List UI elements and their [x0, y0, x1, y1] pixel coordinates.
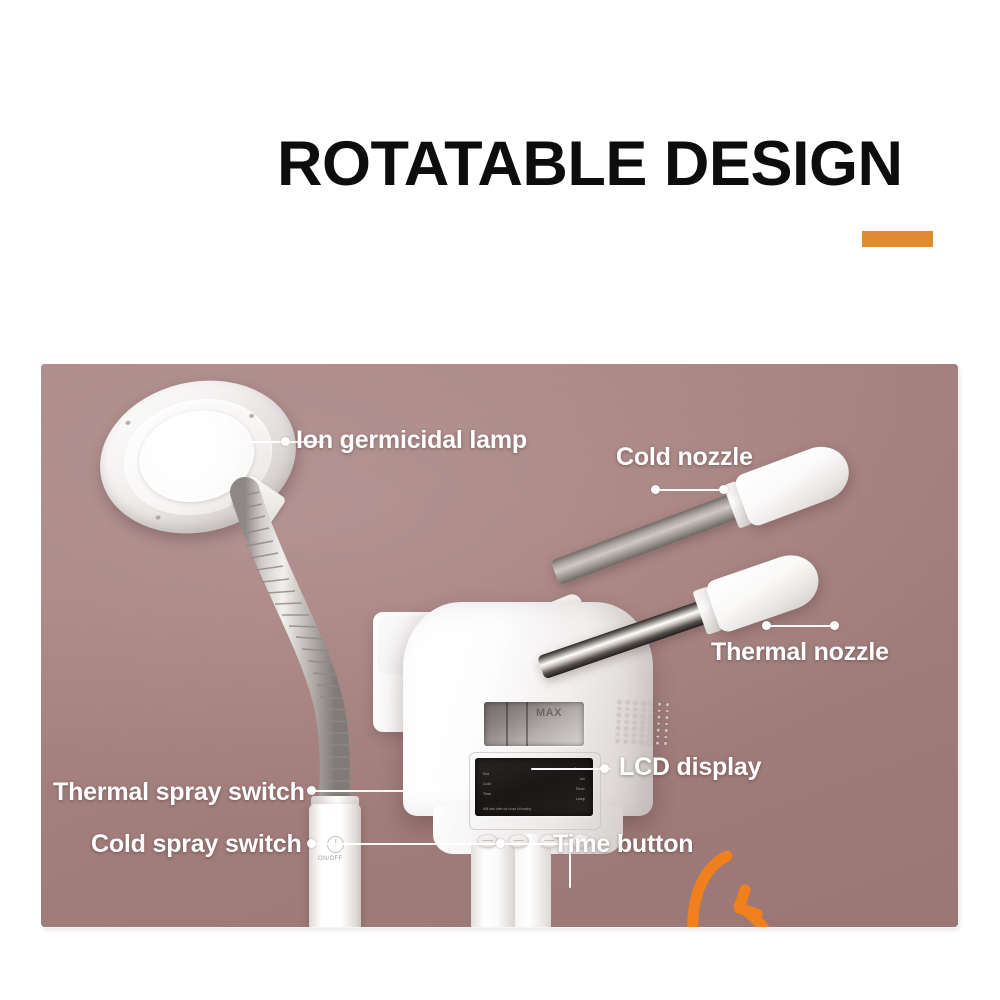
leader-line-cold-nozzle: [656, 489, 724, 491]
grille-dot: [640, 741, 643, 744]
grille-dot: [665, 716, 668, 719]
grille-dot: [656, 742, 659, 745]
grille-dot: [617, 720, 620, 723]
grille-dot: [666, 703, 669, 706]
grille-dot: [634, 701, 637, 704]
water-level-window: MAX: [484, 702, 584, 746]
grille-dot: [618, 707, 621, 710]
power-label: ON/OFF: [318, 856, 342, 862]
leader-dot-cold-nozzle-left: [651, 485, 660, 494]
grille-dot: [641, 715, 644, 718]
control-button-1[interactable]: [477, 834, 498, 848]
lcd-label-time: Time: [483, 792, 491, 796]
grille-dot: [640, 734, 643, 737]
leader-line-lcd-display: [531, 768, 611, 770]
grille-dot: [617, 726, 620, 729]
grille-dot: [648, 735, 651, 738]
grille-dot: [624, 733, 627, 736]
grille-dot: [633, 714, 636, 717]
grille-dot: [648, 741, 651, 744]
infographic-page: ROTATABLE DESIGN: [0, 0, 1000, 1000]
grille-dot: [616, 733, 619, 736]
grille-dot: [642, 702, 645, 705]
grille-dot: [657, 729, 660, 732]
leader-line-thermal-spray-switch: [312, 790, 454, 792]
grille-dot: [641, 721, 644, 724]
base-column-left: [471, 844, 515, 927]
gooseneck-tube: [237, 492, 363, 822]
leader-dot-ion-lamp: [281, 437, 290, 446]
grille-dot: [618, 701, 621, 704]
lcd-label-ion: Ion: [580, 777, 585, 781]
callout-ion-germicidal-lamp: Ion germicidal lamp: [296, 426, 527, 455]
grille-dot: [664, 735, 667, 738]
grille-dot: [657, 722, 660, 725]
grille-dot: [665, 729, 668, 732]
lcd-label-hot: Hot: [483, 772, 489, 776]
control-button-2[interactable]: [508, 834, 529, 848]
leader-dot-thermal-spray-switch: [307, 786, 316, 795]
grille-dot: [666, 710, 669, 713]
grille-dot: [624, 740, 627, 743]
lcd-label-lamp: Lamp: [576, 797, 585, 801]
grille-dot: [658, 709, 661, 712]
lcd-footer-text: Will start after six hours of heating: [483, 807, 531, 811]
grille-dot: [626, 701, 629, 704]
product-photo-panel: ON/OFF MAX Hot Cold Time: [41, 364, 958, 927]
leader-dot-thermal-nozzle-left: [762, 621, 771, 630]
grille-dot: [656, 735, 659, 738]
grille-dot: [658, 703, 661, 706]
callout-cold-nozzle: Cold nozzle: [616, 443, 753, 472]
grille-dot: [616, 739, 619, 742]
grille-dot: [625, 720, 628, 723]
grille-dot: [626, 707, 629, 710]
grille-dot: [617, 713, 620, 716]
page-title: ROTATABLE DESIGN: [277, 133, 902, 196]
leader-line-thermal-nozzle: [767, 625, 835, 627]
grille-dot: [649, 722, 652, 725]
grille-dot: [634, 708, 637, 711]
leader-dot-time-button: [496, 839, 505, 848]
leader-dot-lcd-display: [600, 764, 609, 773]
lcd-display-panel[interactable]: Hot Cold Time Ozone Ion Timer Lamp Will …: [475, 758, 593, 816]
grille-dot: [657, 716, 660, 719]
speaker-grille: [616, 701, 676, 750]
grille-dot: [650, 709, 653, 712]
grille-dot: [641, 728, 644, 731]
grille-dot: [633, 727, 636, 730]
grille-dot: [649, 728, 652, 731]
grille-dot: [642, 708, 645, 711]
grille-dot: [625, 714, 628, 717]
rotation-arrow-icon: [681, 844, 811, 927]
grille-dot: [632, 740, 635, 743]
grille-dot: [632, 734, 635, 737]
grille-dot: [625, 727, 628, 730]
grille-dot: [665, 722, 668, 725]
callout-cold-spray-switch: Cold spray switch: [91, 830, 302, 859]
grille-dot: [664, 742, 667, 745]
grille-dot: [649, 715, 652, 718]
callout-lcd-display: LCD display: [619, 753, 761, 782]
callout-thermal-nozzle: Thermal nozzle: [711, 638, 889, 667]
lcd-label-timer: Timer: [575, 787, 585, 791]
tank-max-marking: MAX: [536, 707, 562, 719]
title-accent-bar: [862, 231, 933, 247]
leader-dot-thermal-nozzle-right: [830, 621, 839, 630]
grille-dot: [633, 721, 636, 724]
lcd-label-cold: Cold: [483, 782, 491, 786]
callout-thermal-spray-switch: Thermal spray switch: [53, 778, 305, 807]
lamp-stem: [309, 804, 361, 927]
callout-time-button: Time button: [553, 830, 693, 859]
grille-dot: [650, 702, 653, 705]
leader-dot-cold-spray-switch: [307, 839, 316, 848]
leader-dot-cold-nozzle-right: [719, 485, 728, 494]
